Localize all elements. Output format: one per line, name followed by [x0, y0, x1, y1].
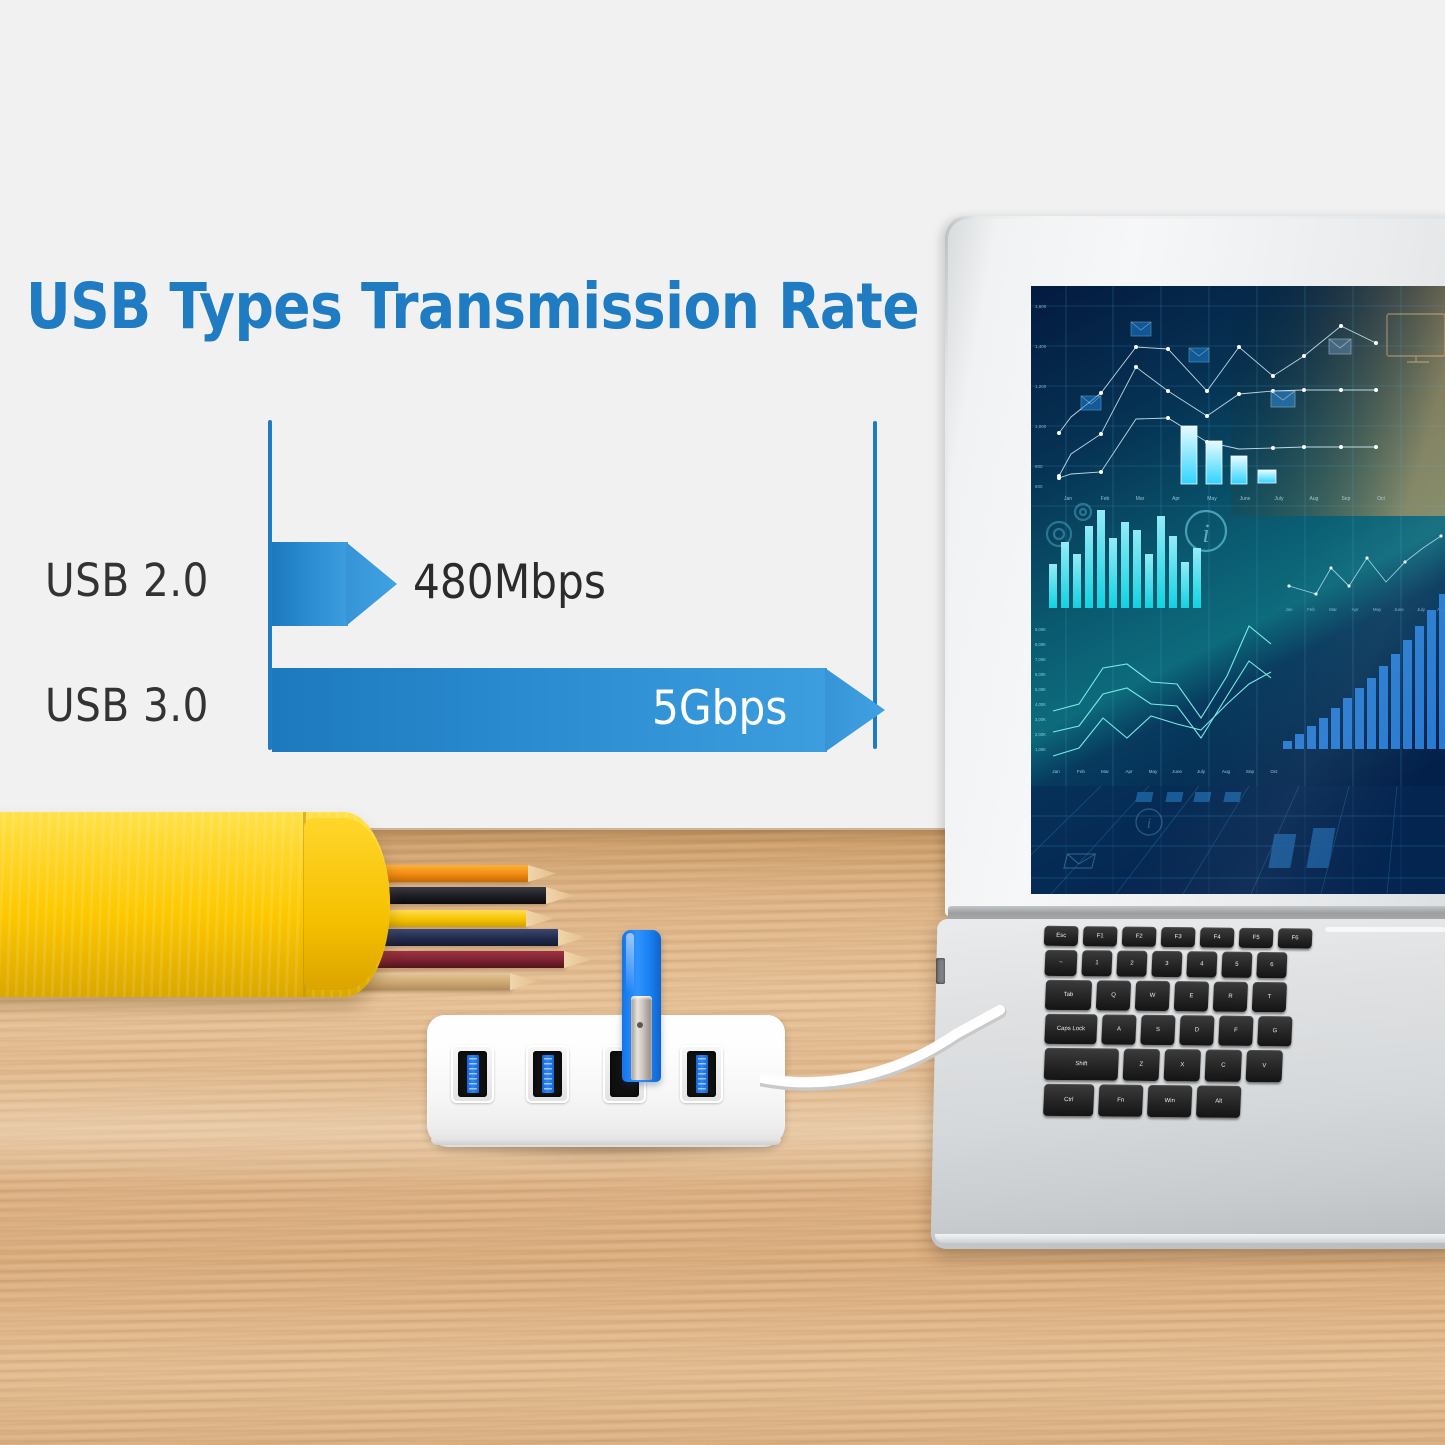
keyboard-row-5: ShiftZXCV: [1044, 1048, 1283, 1082]
svg-text:June: June: [1394, 607, 1404, 612]
keyboard-row-6: CtrlFnWinAlt: [1043, 1084, 1241, 1118]
svg-text:Oct: Oct: [1270, 769, 1278, 774]
svg-text:Feb: Feb: [1101, 496, 1110, 502]
product-marketing-image: USB Types Transmission Rate USB 2.0 USB …: [0, 0, 1445, 1445]
key-r[interactable]: R: [1213, 982, 1248, 1012]
svg-text:9,00K: 9,00K: [1035, 627, 1046, 632]
pencil-wood-tip: [558, 929, 586, 946]
key-x[interactable]: X: [1164, 1049, 1201, 1081]
key-t[interactable]: T: [1252, 982, 1287, 1012]
usb-hub[interactable]: [427, 1015, 785, 1147]
key-g[interactable]: G: [1257, 1016, 1292, 1046]
svg-text:May: May: [1373, 607, 1382, 612]
yellow-pencil-case: [0, 812, 390, 997]
svg-text:600: 600: [1035, 484, 1043, 489]
svg-text:800: 800: [1035, 464, 1043, 469]
key-6[interactable]: 6: [1256, 952, 1287, 978]
key-1[interactable]: 1: [1081, 950, 1112, 976]
svg-text:Oct: Oct: [1377, 496, 1385, 502]
svg-text:8,00K: 8,00K: [1035, 642, 1046, 647]
screen-wallpaper-analytics-dashboard: 1,6001,400 1,2001,000 800600: [1031, 286, 1445, 894]
key-shift[interactable]: Shift: [1044, 1048, 1119, 1081]
chart-bar-usb20-arrowhead: [346, 542, 397, 626]
flash-drive-highlight: [626, 933, 634, 993]
svg-text:June: June: [1172, 769, 1182, 774]
key-f3[interactable]: F3: [1161, 927, 1196, 947]
svg-text:1,400: 1,400: [1035, 344, 1047, 349]
key-3[interactable]: 3: [1151, 951, 1182, 977]
pencil-wood-tip: [510, 973, 538, 990]
chart-bar-usb20: [272, 542, 397, 626]
usb-port-4-slot: [687, 1051, 716, 1097]
svg-text:Mar: Mar: [1101, 769, 1109, 774]
svg-text:Aug: Aug: [1310, 496, 1319, 502]
envelope-icon: [1271, 391, 1295, 407]
svg-text:Sep: Sep: [1246, 769, 1255, 774]
envelope-icon: [1189, 348, 1209, 362]
key-a[interactable]: A: [1101, 1014, 1136, 1044]
usb-port-4-blue-insert: [696, 1055, 708, 1093]
chart-bar-usb30: [272, 668, 885, 752]
svg-text:Jan: Jan: [1052, 769, 1060, 774]
laptop-usb-port[interactable]: [936, 958, 945, 984]
chart-category-label-usb30: USB 3.0: [45, 679, 209, 732]
usb-flash-drive[interactable]: [622, 930, 661, 1082]
key-q[interactable]: Q: [1096, 980, 1131, 1010]
pencil-wood-tip: [526, 910, 554, 927]
pencil-wood-tip: [546, 887, 574, 904]
pencil-wood-tip: [528, 865, 556, 882]
usb-port-1-blue-insert: [467, 1055, 479, 1093]
svg-text:Mar: Mar: [1136, 496, 1145, 502]
usb-port-4[interactable]: [680, 1045, 723, 1103]
svg-text:June: June: [1240, 496, 1251, 502]
svg-text:1,600: 1,600: [1035, 304, 1047, 309]
key-ctrl[interactable]: Ctrl: [1043, 1084, 1094, 1117]
chart-category-label-usb20: USB 2.0: [45, 554, 209, 607]
key-f6[interactable]: F6: [1278, 928, 1313, 948]
laptop-keyboard[interactable]: EscF1F2F3F4F5F6~123456TabQWERTCaps LockA…: [1036, 926, 1445, 1130]
key-f[interactable]: F: [1218, 1016, 1253, 1046]
transmission-rate-chart: USB 2.0 USB 3.0 480Mbps 5Gbps: [0, 0, 900, 800]
envelope-icon: [1329, 339, 1351, 354]
flash-drive-connector: [631, 996, 652, 1080]
key-caps-lock[interactable]: Caps Lock: [1044, 1014, 1097, 1045]
key-win[interactable]: Win: [1147, 1085, 1192, 1117]
key-e[interactable]: E: [1174, 981, 1209, 1011]
usb-port-2-blue-insert: [542, 1055, 554, 1093]
key-alt[interactable]: Alt: [1196, 1085, 1241, 1117]
svg-text:July: July: [1275, 496, 1284, 502]
key-v[interactable]: V: [1246, 1050, 1283, 1082]
key-4[interactable]: 4: [1186, 951, 1217, 977]
svg-text:1,00K: 1,00K: [1035, 747, 1046, 752]
laptop-lid: 1,6001,400 1,2001,000 800600: [945, 216, 1445, 916]
key-fn[interactable]: Fn: [1098, 1084, 1143, 1116]
svg-text:July: July: [1197, 769, 1206, 774]
key-5[interactable]: 5: [1221, 952, 1252, 978]
chart-value-label-usb20: 480Mbps: [413, 555, 606, 610]
keyboard-row-1: EscF1F2F3F4F5F6: [1044, 926, 1313, 949]
svg-text:Jan: Jan: [1064, 496, 1072, 502]
hub-top-highlight: [429, 1016, 783, 1042]
pencil-navy: [364, 929, 560, 946]
svg-text:3,00K: 3,00K: [1035, 717, 1046, 722]
usb-port-2-slot: [533, 1051, 562, 1097]
svg-text:i: i: [1202, 519, 1209, 548]
svg-text:Jan: Jan: [1285, 607, 1293, 612]
envelope-icon: [1081, 396, 1101, 410]
usb-port-1-slot: [458, 1051, 487, 1097]
chart-bar-usb30-arrowhead: [825, 668, 885, 752]
svg-text:Aug: Aug: [1222, 769, 1231, 774]
chart-value-label-usb30: 5Gbps: [652, 681, 787, 736]
envelope-icon: [1131, 322, 1151, 336]
svg-text:Feb: Feb: [1307, 607, 1315, 612]
svg-text:Feb: Feb: [1077, 769, 1085, 774]
key-z[interactable]: Z: [1123, 1049, 1160, 1081]
svg-text:July: July: [1417, 607, 1426, 612]
keyboard-row-3: TabQWERT: [1045, 980, 1287, 1013]
laptop-screen[interactable]: 1,6001,400 1,2001,000 800600: [1031, 286, 1445, 894]
svg-text:7,00K: 7,00K: [1035, 657, 1046, 662]
svg-text:4,00K: 4,00K: [1035, 702, 1046, 707]
usb-port-2[interactable]: [526, 1045, 569, 1103]
key-[interactable]: ~: [1044, 950, 1077, 976]
key-f5[interactable]: F5: [1239, 928, 1274, 948]
svg-text:i: i: [1147, 816, 1151, 832]
key-f1[interactable]: F1: [1083, 926, 1118, 946]
svg-text:5,00K: 5,00K: [1035, 687, 1046, 692]
svg-text:Apr: Apr: [1352, 607, 1359, 612]
key-f2[interactable]: F2: [1122, 927, 1157, 947]
key-f4[interactable]: F4: [1200, 927, 1235, 947]
svg-text:Apr: Apr: [1172, 496, 1180, 502]
key-2[interactable]: 2: [1116, 951, 1147, 977]
svg-text:May: May: [1149, 769, 1158, 774]
svg-text:May: May: [1207, 496, 1217, 502]
svg-text:Apr: Apr: [1125, 769, 1133, 774]
usb-port-1[interactable]: [451, 1045, 494, 1103]
key-tab[interactable]: Tab: [1045, 980, 1092, 1010]
key-w[interactable]: W: [1135, 981, 1170, 1011]
key-esc[interactable]: Esc: [1044, 926, 1079, 946]
key-d[interactable]: D: [1179, 1015, 1214, 1045]
key-c[interactable]: C: [1205, 1049, 1242, 1081]
svg-text:1,200: 1,200: [1035, 384, 1047, 389]
svg-text:6,00K: 6,00K: [1035, 672, 1046, 677]
svg-text:1,000: 1,000: [1035, 424, 1047, 429]
pencil-wood-tip: [564, 951, 592, 968]
laptop-base-lip: [935, 1234, 1445, 1243]
hub-bottom-edge: [431, 1139, 781, 1145]
svg-text:Sep: Sep: [1342, 496, 1351, 502]
chart-bar-usb20-body: [272, 542, 348, 626]
usb-cable: [760, 1000, 1050, 1120]
key-s[interactable]: S: [1140, 1015, 1175, 1045]
keyboard-row-4: Caps LockASDFG: [1044, 1014, 1292, 1047]
svg-text:Mar: Mar: [1329, 607, 1337, 612]
keyboard-row-2: ~123456: [1044, 950, 1287, 979]
svg-text:2,00K: 2,00K: [1035, 732, 1046, 737]
